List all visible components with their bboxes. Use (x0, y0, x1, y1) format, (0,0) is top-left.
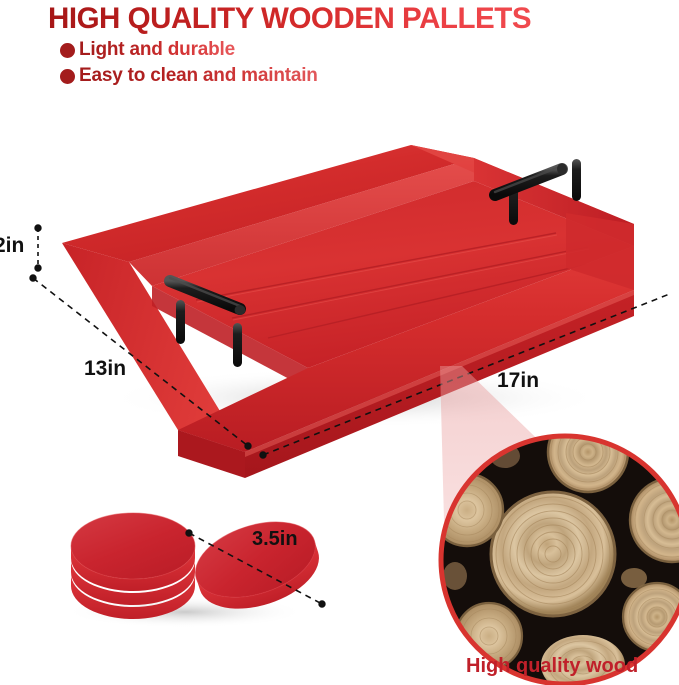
feature-bullet-list: Light and durable Easy to clean and main… (60, 38, 318, 90)
filled-circle-bullet-icon (60, 69, 75, 84)
magnifier-cone (440, 366, 662, 560)
tray-handle-left (170, 278, 245, 367)
dimension-label-width: 13in (84, 357, 126, 381)
coaster-leaning (186, 508, 329, 622)
dimension-label-depth: 17in (497, 369, 539, 393)
coasters-graphic (65, 508, 329, 628)
product-infographic: HIGH QUALITY WOODEN PALLETS Light and du… (0, 0, 679, 685)
bullet-label-2: Easy to clean and maintain (79, 65, 318, 87)
dimension-lines (30, 225, 672, 458)
serving-tray-graphic (62, 145, 634, 478)
tray-handle-right (495, 159, 581, 225)
page-title: HIGH QUALITY WOODEN PALLETS (48, 2, 531, 36)
product-illustration (0, 0, 679, 685)
wood-detail-caption: High quality wood (466, 655, 638, 678)
filled-circle-bullet-icon (60, 43, 75, 58)
coaster-stack (71, 513, 195, 619)
wood-detail-callout (431, 412, 679, 685)
list-item: Light and durable (60, 38, 318, 62)
dimension-label-height: 2in (0, 234, 24, 258)
dimension-label-coaster-diameter: 3.5in (252, 528, 298, 551)
bullet-label-1: Light and durable (79, 39, 235, 61)
list-item: Easy to clean and maintain (60, 64, 318, 88)
